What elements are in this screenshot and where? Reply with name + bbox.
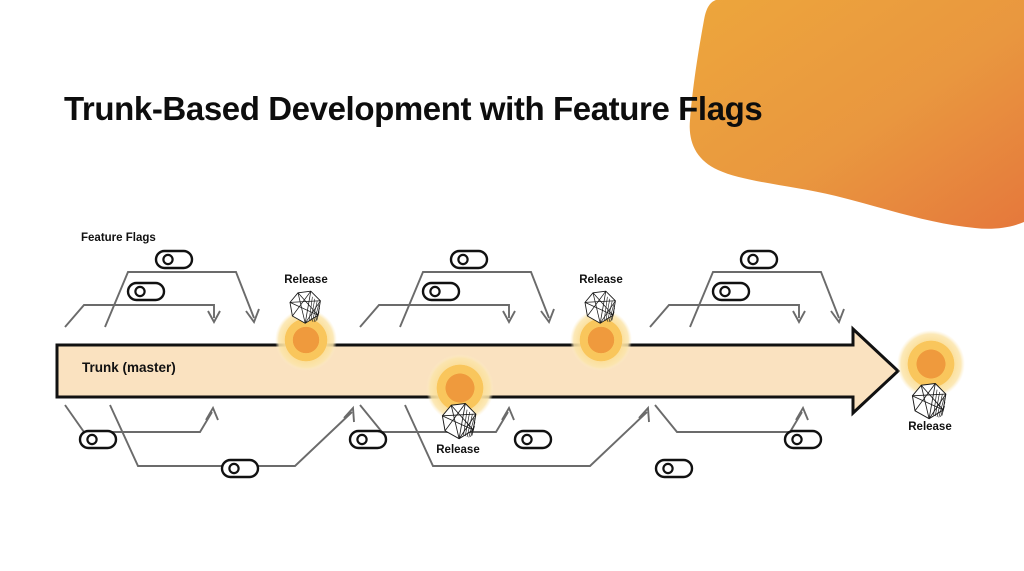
bottom-branch-group-2 <box>360 405 649 466</box>
feature-flag-toggle[interactable] <box>128 283 164 300</box>
feature-flag-toggle[interactable] <box>515 431 551 448</box>
bottom-branch-3-inner <box>655 405 802 432</box>
feature-flag-toggle[interactable] <box>713 283 749 300</box>
top-branch-group-2 <box>360 272 554 327</box>
top-branch-3-outer <box>690 272 839 327</box>
bottom-branch-3-inner-arrow <box>796 408 808 420</box>
feature-flag-toggle[interactable] <box>350 431 386 448</box>
feature-flag-toggle[interactable] <box>423 283 459 300</box>
top-branch-1-outer <box>105 272 254 327</box>
feature-flag-toggle[interactable] <box>80 431 116 448</box>
feature-flag-toggle[interactable] <box>451 251 487 268</box>
top-branch-1-inner <box>65 305 214 327</box>
trunk-label: Trunk (master) <box>82 360 176 375</box>
bottom-branch-1-inner <box>65 405 212 432</box>
trunk-based-development-diagram: Trunk (master) <box>0 0 1024 571</box>
release-marker[interactable]: Release <box>897 330 965 433</box>
feature-flag-toggle[interactable] <box>156 251 192 268</box>
bottom-branch-group-3 <box>655 405 808 432</box>
top-branch-2-inner <box>360 305 509 327</box>
top-branch-3-inner <box>650 305 799 327</box>
release-label: Release <box>579 274 622 286</box>
feature-flag-toggle[interactable] <box>656 460 692 477</box>
bottom-branch-1-outer <box>110 405 352 466</box>
slide-canvas: Trunk-Based Development with Feature Fla… <box>0 0 1024 571</box>
bottom-branch-2-inner-arrow <box>502 408 514 420</box>
release-label: Release <box>284 274 327 286</box>
release-marker[interactable]: Release <box>275 274 337 371</box>
release-marker[interactable]: Release <box>570 274 632 371</box>
feature-flag-toggle[interactable] <box>222 460 258 477</box>
page-title: Trunk-Based Development with Feature Fla… <box>64 90 762 128</box>
bottom-branch-1-inner-arrow <box>206 408 218 420</box>
feature-flag-toggle[interactable] <box>785 431 821 448</box>
top-branch-group-3 <box>650 272 844 327</box>
bottom-branch-lines <box>65 405 808 466</box>
feature-flag-toggle[interactable] <box>741 251 777 268</box>
feature-flags-label: Feature Flags <box>81 232 156 244</box>
release-label: Release <box>908 421 951 433</box>
top-branch-group-1 <box>65 272 259 327</box>
release-marker[interactable]: Release <box>426 354 494 456</box>
release-label: Release <box>436 444 479 456</box>
top-branch-2-outer <box>400 272 549 327</box>
